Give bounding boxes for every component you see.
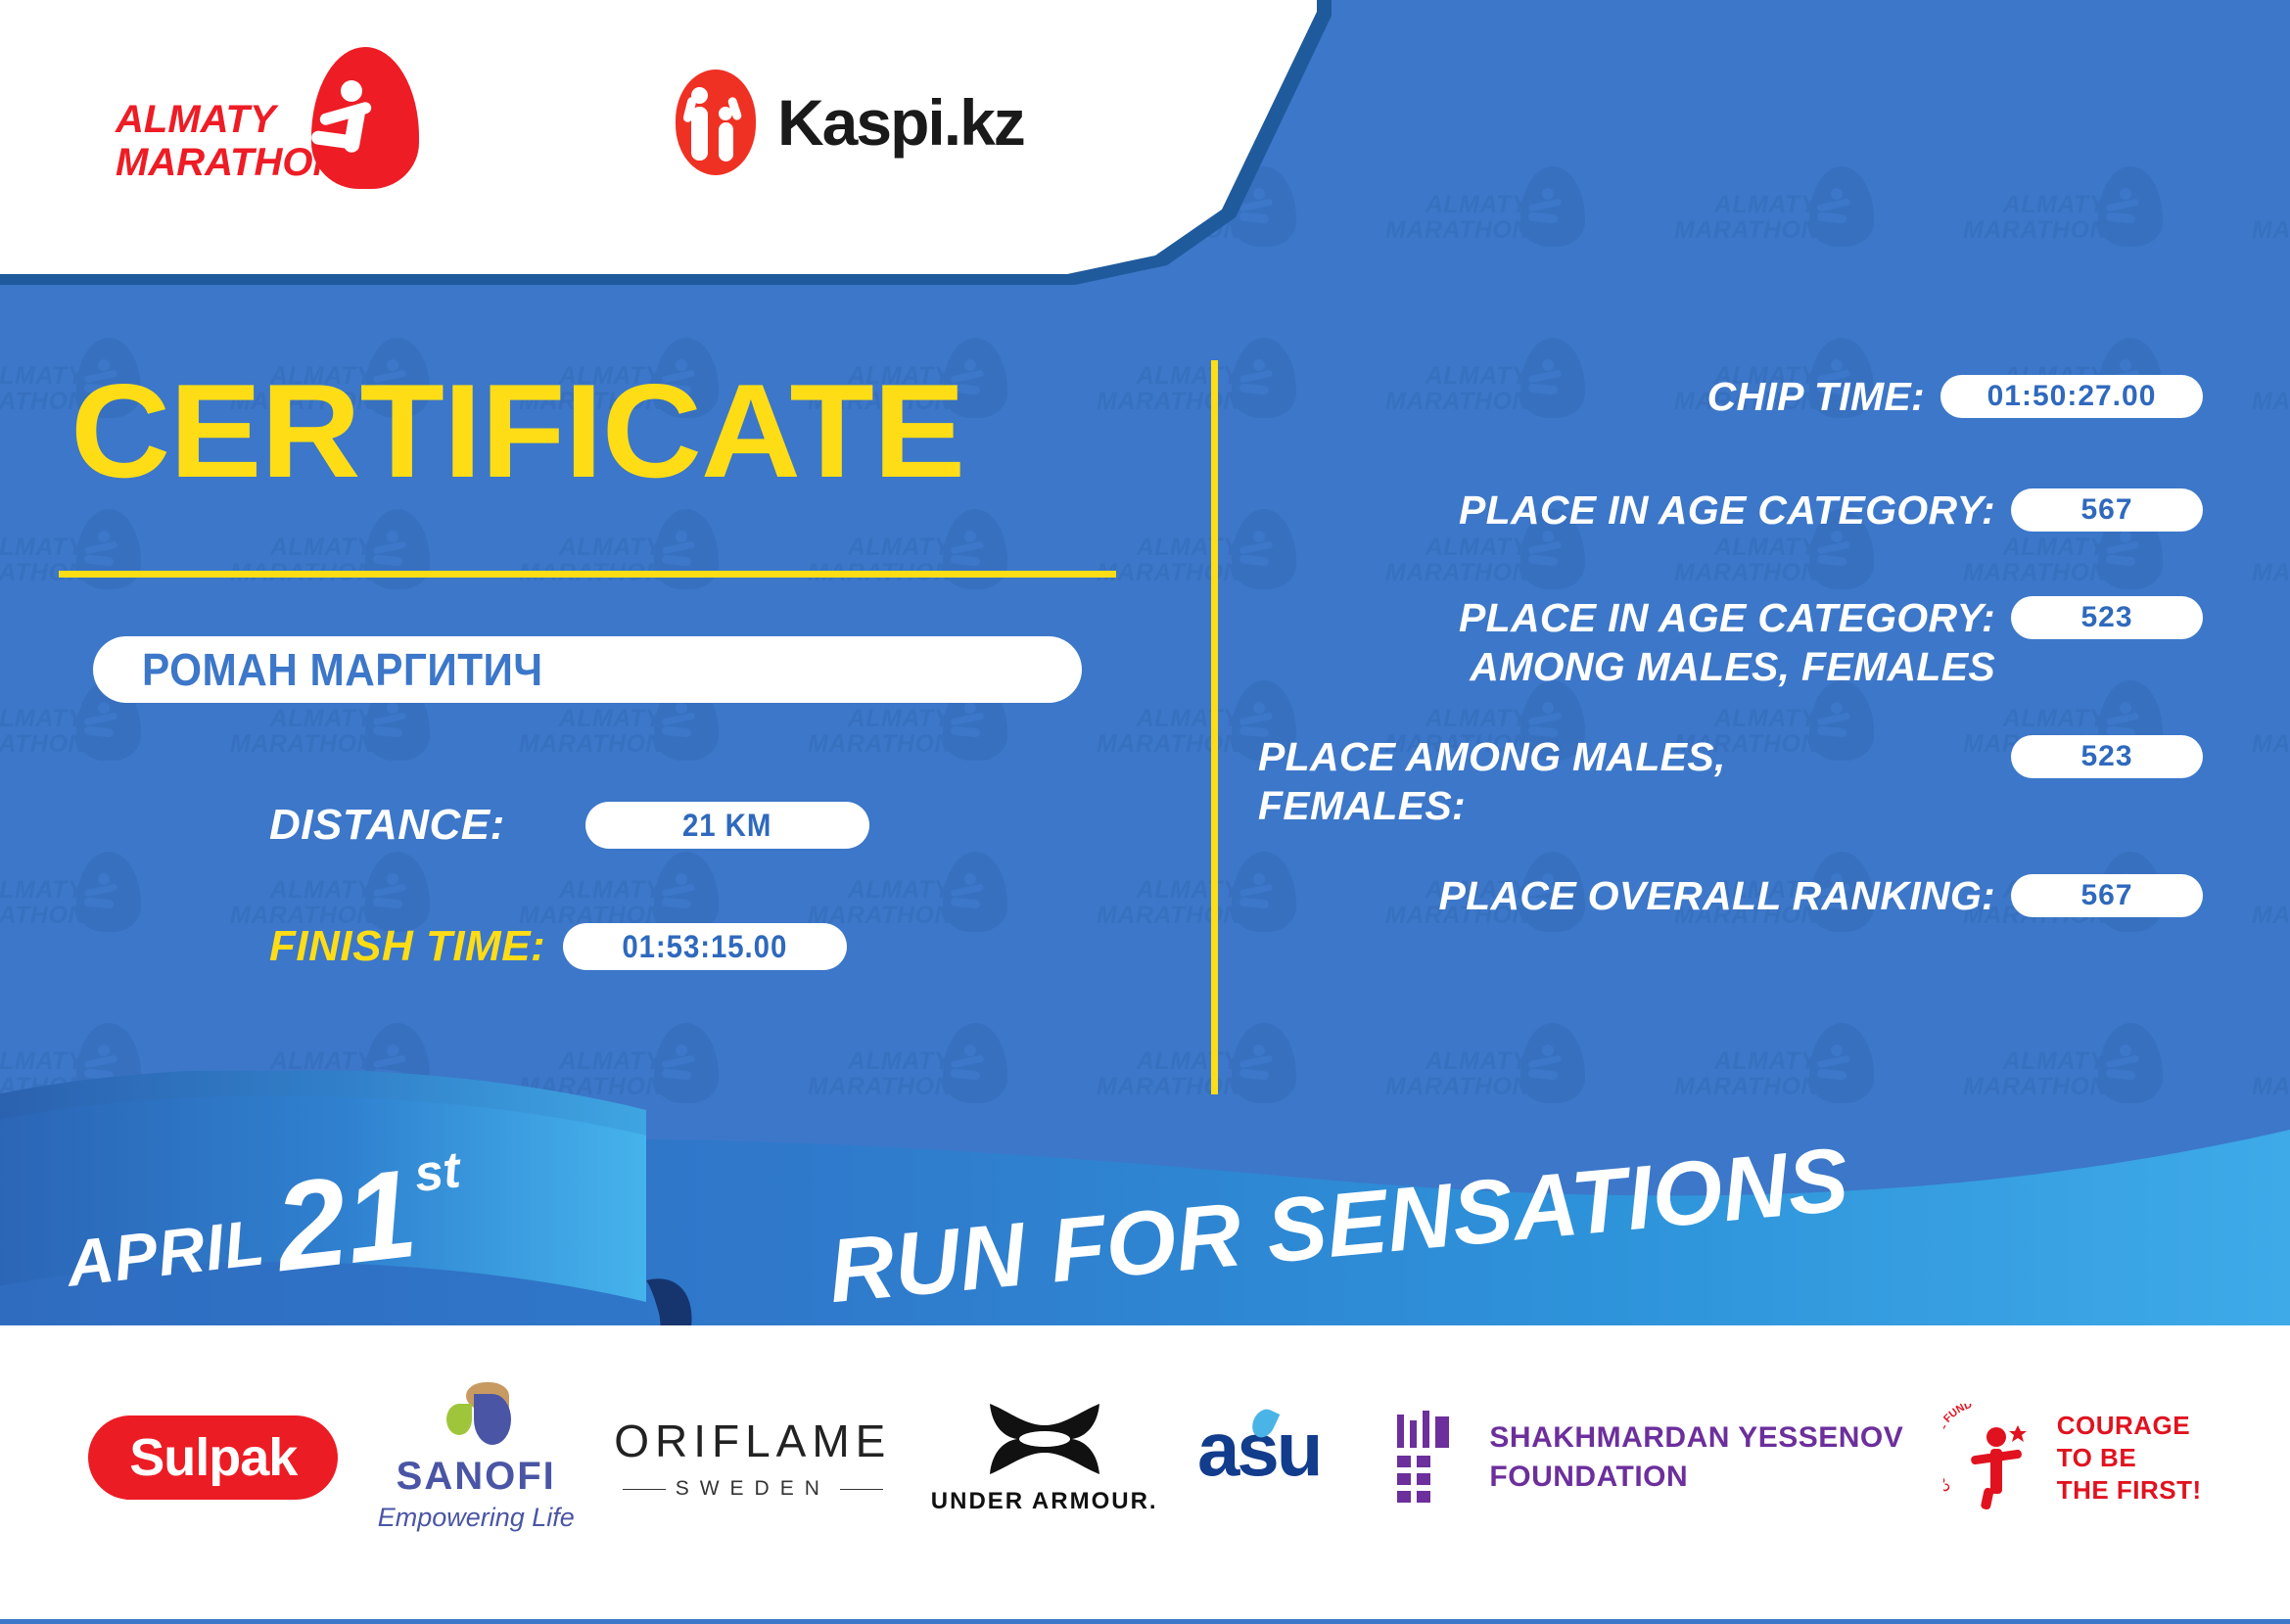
under-armour-wordmark: UNDER ARMOUR. xyxy=(931,1488,1158,1515)
watermark-text: ALMATYMARATHON xyxy=(808,877,951,928)
stat-value-place-overall: 567 xyxy=(2080,879,2132,912)
asu-logo: asu xyxy=(1197,1411,1354,1505)
sponsor-sanofi: SANOFI Empowering Life xyxy=(378,1382,575,1533)
yessenov-wordmark: SHAKHMARDAN YESSENOV FOUNDATION xyxy=(1489,1418,1903,1497)
watermark-text: ALMATYMARATHON xyxy=(2252,706,2290,757)
watermark-almaty-marathon: ALMATYMARATHON xyxy=(1385,166,1591,284)
watermark-almaty-marathon: ALMATYMARATHON xyxy=(2252,509,2290,626)
kaspi-people-icon xyxy=(676,70,756,175)
almaty-marathon-logo: ALMATY MARATHON xyxy=(116,47,439,189)
distance-row: DISTANCE: 21 KM xyxy=(269,801,869,850)
stat-value-chip-time: 01:50:27.00 xyxy=(1987,380,2157,413)
stat-pill-chip-time: 01:50:27.00 xyxy=(1940,375,2203,418)
results-stats-panel: CHIP TIME: 01:50:27.00 PLACE IN AGE CATE… xyxy=(1258,372,2203,951)
stat-label-chip-time: CHIP TIME: xyxy=(1258,372,1940,421)
watermark-runner-icon xyxy=(949,702,990,739)
watermark-runner-icon xyxy=(1815,188,1856,225)
distance-label: DISTANCE: xyxy=(269,801,505,850)
stat-label-line2: FEMALES: xyxy=(1258,781,1995,830)
stat-value-place-age-category-gender: 523 xyxy=(2080,601,2132,634)
watermark-runner-icon xyxy=(949,531,990,568)
watermark-runner-icon xyxy=(2104,188,2145,225)
watermark-almaty-marathon: ALMATYMARATHON xyxy=(2252,166,2290,284)
stat-pill-place-age-category: 567 xyxy=(2011,488,2203,532)
courage-line3: THE FIRST! xyxy=(2057,1474,2202,1507)
watermark-text: ALMATYMARATHON xyxy=(230,534,373,585)
yessenov-bars-icon xyxy=(1393,1411,1464,1505)
watermark-text: ALMATYMARATHON xyxy=(1097,534,1239,585)
sponsor-corporate-fund: CORPORATE FUND COURAGE TO BE THE FIRST! xyxy=(1943,1404,2202,1511)
yessenov-line1: SHAKHMARDAN YESSENOV xyxy=(1489,1418,1903,1458)
courage-figure-icon: CORPORATE FUND xyxy=(1943,1404,2041,1511)
sponsor-yessenov-foundation: SHAKHMARDAN YESSENOV FOUNDATION xyxy=(1393,1411,1903,1505)
finish-time-row: FINISH TIME: 01:53:15.00 xyxy=(269,922,847,971)
watermark-text: ALMATYMARATHON xyxy=(2252,363,2290,414)
stat-label-place-among-gender: PLACE AMONG MALES, FEMALES: xyxy=(1258,732,2011,830)
event-date-ribbon: APRIL 21 st xyxy=(0,1094,773,1320)
event-date: APRIL 21 st xyxy=(58,1140,470,1307)
kaspi-wordmark: Kaspi.kz xyxy=(777,85,1024,160)
stat-row-place-age-category: PLACE IN AGE CATEGORY: 567 xyxy=(1258,486,2203,548)
oriflame-rule-right xyxy=(840,1489,883,1490)
watermark-runner-icon xyxy=(371,531,412,568)
watermark-runner-icon xyxy=(660,873,701,910)
watermark-text: ALMATYMARATHON xyxy=(1963,192,2106,243)
sanofi-leaf-icon xyxy=(437,1382,515,1447)
courage-line2: TO BE xyxy=(2057,1442,2202,1474)
stat-label-line1: PLACE IN AGE CATEGORY: xyxy=(1258,593,1995,642)
watermark-text: ALMATYMARATHON xyxy=(1385,192,1528,243)
marathon-logo-line1: ALMATY xyxy=(116,98,341,141)
yessenov-line2: FOUNDATION xyxy=(1489,1458,1903,1497)
watermark-almaty-marathon: ALMATYMARATHON xyxy=(2252,680,2290,798)
sponsor-oriflame: ORIFLAME SWEDEN xyxy=(614,1415,891,1501)
title-divider xyxy=(59,571,1116,578)
oriflame-wordmark: ORIFLAME xyxy=(614,1415,891,1467)
watermark-runner-icon xyxy=(371,702,412,739)
watermark-almaty-marathon: ALMATYMARATHON xyxy=(230,509,436,626)
watermark-text: ALMATYMARATHON xyxy=(1097,706,1239,757)
oriflame-subtitle-row: SWEDEN xyxy=(623,1477,883,1501)
watermark-text: ALMATYMARATHON xyxy=(519,706,662,757)
corporate-fund-arc-text: CORPORATE FUND xyxy=(1943,1404,1974,1494)
watermark-text: ALMATYMARATHON xyxy=(808,534,951,585)
event-date-ordinal: st xyxy=(411,1140,463,1204)
sponsor-under-armour: UNDER ARMOUR. xyxy=(931,1400,1158,1515)
stat-row-place-age-category-gender: PLACE IN AGE CATEGORY: AMONG MALES, FEMA… xyxy=(1258,593,2203,691)
distance-value: 21 KM xyxy=(682,808,771,844)
kaspi-logo: Kaspi.kz xyxy=(676,69,1024,176)
stat-pill-place-among-gender: 523 xyxy=(2011,735,2203,778)
watermark-text: ALMATYMARATHON xyxy=(1097,363,1239,414)
watermark-runner-icon xyxy=(82,873,123,910)
watermark-almaty-marathon: ALMATYMARATHON xyxy=(1674,166,1880,284)
watermark-runner-icon xyxy=(949,873,990,910)
watermark-runner-icon xyxy=(660,531,701,568)
svg-text:CORPORATE FUND: CORPORATE FUND xyxy=(1943,1404,1974,1494)
stat-label-line2: AMONG MALES, FEMALES xyxy=(1258,642,1995,691)
watermark-text: ALMATYMARATHON xyxy=(0,706,84,757)
stat-row-place-among-gender: PLACE AMONG MALES, FEMALES: 523 xyxy=(1258,732,2203,830)
column-divider xyxy=(1211,360,1218,1094)
stat-pill-place-overall: 567 xyxy=(2011,874,2203,917)
sponsor-sulpak: Sulpak xyxy=(88,1415,338,1500)
oriflame-subtitle: SWEDEN xyxy=(676,1477,830,1501)
sanofi-tagline: Empowering Life xyxy=(378,1503,575,1533)
watermark-text: ALMATYMARATHON xyxy=(2252,534,2290,585)
stat-label-place-overall: PLACE OVERALL RANKING: xyxy=(1258,871,2011,920)
stat-label-place-age-category-gender: PLACE IN AGE CATEGORY: AMONG MALES, FEMA… xyxy=(1258,593,2011,691)
watermark-text: ALMATYMARATHON xyxy=(230,706,373,757)
watermark-runner-icon xyxy=(82,702,123,739)
watermark-text: ALMATYMARATHON xyxy=(1097,877,1239,928)
participant-name-value: РОМАН МАРГИТИЧ xyxy=(142,643,543,696)
marathon-logo-line2: MARATHON xyxy=(116,141,341,184)
distance-value-pill: 21 KM xyxy=(585,802,869,849)
stat-label-place-age-category: PLACE IN AGE CATEGORY: xyxy=(1258,486,2011,534)
watermark-text: ALMATYMARATHON xyxy=(0,877,84,928)
stat-value-place-among-gender: 523 xyxy=(2080,740,2132,773)
watermark-almaty-marathon: ALMATYMARATHON xyxy=(0,852,147,969)
oriflame-rule-left xyxy=(623,1489,666,1490)
watermark-almaty-marathon: ALMATYMARATHON xyxy=(2252,852,2290,969)
courage-wordmark: COURAGE TO BE THE FIRST! xyxy=(2057,1410,2202,1507)
watermark-text: ALMATYMARATHON xyxy=(230,877,373,928)
participant-name-field: РОМАН МАРГИТИЧ xyxy=(93,636,1082,703)
watermark-text: ALMATYMARATHON xyxy=(519,534,662,585)
almaty-marathon-wordmark: ALMATY MARATHON xyxy=(116,98,341,184)
finish-time-value-pill: 01:53:15.00 xyxy=(563,923,847,970)
watermark-text: ALMATYMARATHON xyxy=(0,534,84,585)
event-date-month: APRIL xyxy=(63,1204,268,1300)
watermark-runner-icon xyxy=(660,702,701,739)
watermark-runner-icon xyxy=(1526,188,1567,225)
stat-row-chip-time: CHIP TIME: 01:50:27.00 xyxy=(1258,372,2203,435)
watermark-runner-icon xyxy=(371,873,412,910)
sulpak-wordmark: Sulpak xyxy=(88,1415,338,1500)
watermark-text: ALMATYMARATHON xyxy=(2252,192,2290,243)
finish-time-label: FINISH TIME: xyxy=(269,922,545,971)
watermark-almaty-marathon: ALMATYMARATHON xyxy=(2252,338,2290,455)
watermark-almaty-marathon: ALMATYMARATHON xyxy=(519,509,724,626)
watermark-almaty-marathon: ALMATYMARATHON xyxy=(1963,166,2169,284)
stat-pill-place-age-category-gender: 523 xyxy=(2011,596,2203,639)
watermark-text: ALMATYMARATHON xyxy=(519,877,662,928)
finish-time-value: 01:53:15.00 xyxy=(623,929,788,965)
watermark-text: ALMATYMARATHON xyxy=(1674,192,1817,243)
sanofi-wordmark: SANOFI xyxy=(397,1455,556,1499)
watermark-almaty-marathon: ALMATYMARATHON xyxy=(808,509,1013,626)
watermark-almaty-marathon: ALMATYMARATHON xyxy=(0,509,147,626)
stat-label-line1: PLACE AMONG MALES, xyxy=(1258,732,1995,781)
sponsors-bar: Sulpak SANOFI Empowering Life ORIFLAME S… xyxy=(0,1325,2290,1619)
stat-value-place-age-category: 567 xyxy=(2080,493,2132,527)
courage-line1: COURAGE xyxy=(2057,1410,2202,1442)
watermark-text: ALMATYMARATHON xyxy=(808,706,951,757)
event-date-day: 21 xyxy=(270,1160,421,1282)
watermark-runner-icon xyxy=(82,531,123,568)
page-title: CERTIFICATE xyxy=(70,372,964,489)
stat-row-place-overall: PLACE OVERALL RANKING: 567 xyxy=(1258,871,2203,934)
sponsor-asu: asu xyxy=(1197,1411,1354,1505)
under-armour-icon xyxy=(984,1400,1105,1478)
watermark-text: ALMATYMARATHON xyxy=(2252,877,2290,928)
